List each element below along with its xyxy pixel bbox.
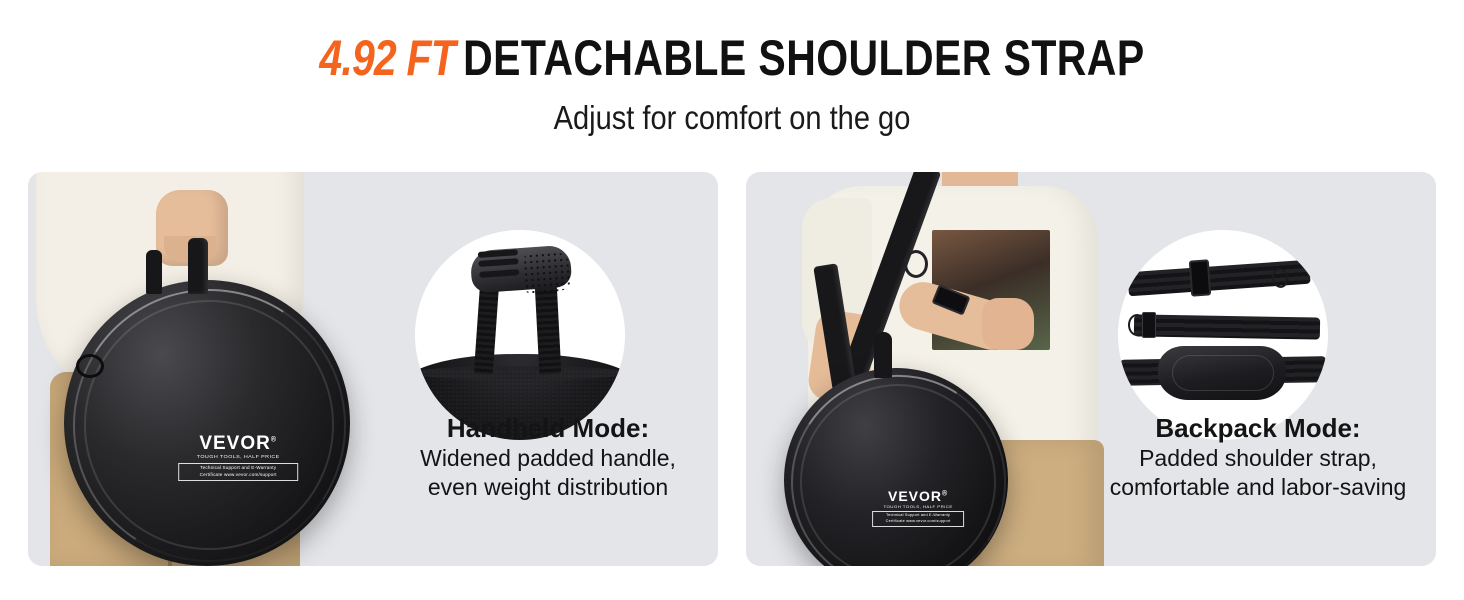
strap-d-ring-icon [904,250,928,278]
brand-name: VEVOR® [872,489,964,503]
strap-length-adjuster [1189,259,1211,296]
support-line-1: Technical Support and E-Warranty [181,465,295,472]
panel-handheld: VEVOR® TOUGH TOOLS, HALF PRICE Technical… [28,172,718,566]
support-line-2: Certificate www.vevor.com/support [875,519,961,525]
model-hand [982,298,1034,350]
brand-support-box: Technical Support and E-Warranty Certifi… [178,463,298,481]
photo-backpack: VEVOR® TOUGH TOOLS, HALF PRICE Technical… [746,172,1146,566]
caption-line-1: Padded shoulder strap, [1098,444,1418,473]
banner-header: 4.92 FTDETACHABLE SHOULDER STRAP Adjust … [0,0,1464,168]
brand-label: VEVOR® TOUGH TOOLS, HALF PRICE Technical… [178,434,298,480]
caption-line-2: even weight distribution [388,473,708,502]
registered-mark-icon: ® [942,490,948,497]
handle-webbing-right [535,281,562,374]
page-subtitle: Adjust for comfort on the go [88,88,1376,138]
shoulder-pad [1158,346,1286,400]
brand-label: VEVOR® TOUGH TOOLS, HALF PRICE Technical… [872,489,964,527]
caption-handheld: Handheld Mode: Widened padded handle, ev… [388,412,708,502]
caption-line-2: comfortable and labor-saving [1098,473,1418,502]
strap-segment-middle [1134,314,1320,339]
brand-tagline: TOUGH TOOLS, HALF PRICE [872,505,964,509]
strap-length-value: 4.92 FT [319,30,455,86]
panel-backpack: VEVOR® TOUGH TOOLS, HALF PRICE Technical… [746,172,1436,566]
caption-title: Handheld Mode: [388,412,708,444]
bag-side-d-ring-icon [76,354,104,378]
bag-rim [84,300,334,550]
brand-tagline: TOUGH TOOLS, HALF PRICE [178,456,298,461]
page-title-text: DETACHABLE SHOULDER STRAP [463,30,1144,86]
bag-top-handle [874,332,892,378]
feature-panels: VEVOR® TOUGH TOOLS, HALF PRICE Technical… [28,172,1436,566]
support-line-2: Certificate www.vevor.com/support [181,472,295,479]
caption-title: Backpack Mode: [1098,412,1418,444]
bag-handle-strap-right [188,238,208,294]
brand-support-box: Technical Support and E-Warranty Certifi… [872,511,964,526]
registered-mark-icon: ® [271,437,277,444]
strap-slider [1142,312,1156,338]
inset-strap-closeup [1118,230,1328,440]
caption-line-1: Widened padded handle, [388,444,708,473]
grip-texture-dots [522,250,573,293]
page-title: 4.92 FTDETACHABLE SHOULDER STRAP [132,0,1332,88]
photo-handheld: VEVOR® TOUGH TOOLS, HALF PRICE Technical… [28,172,418,566]
round-carry-bag: VEVOR® TOUGH TOOLS, HALF PRICE Technical… [64,280,350,566]
inset-handle-closeup [415,230,625,440]
brand-name: VEVOR® [178,434,298,453]
bag-handle-strap-left [146,250,162,294]
caption-backpack: Backpack Mode: Padded shoulder strap, co… [1098,412,1418,502]
